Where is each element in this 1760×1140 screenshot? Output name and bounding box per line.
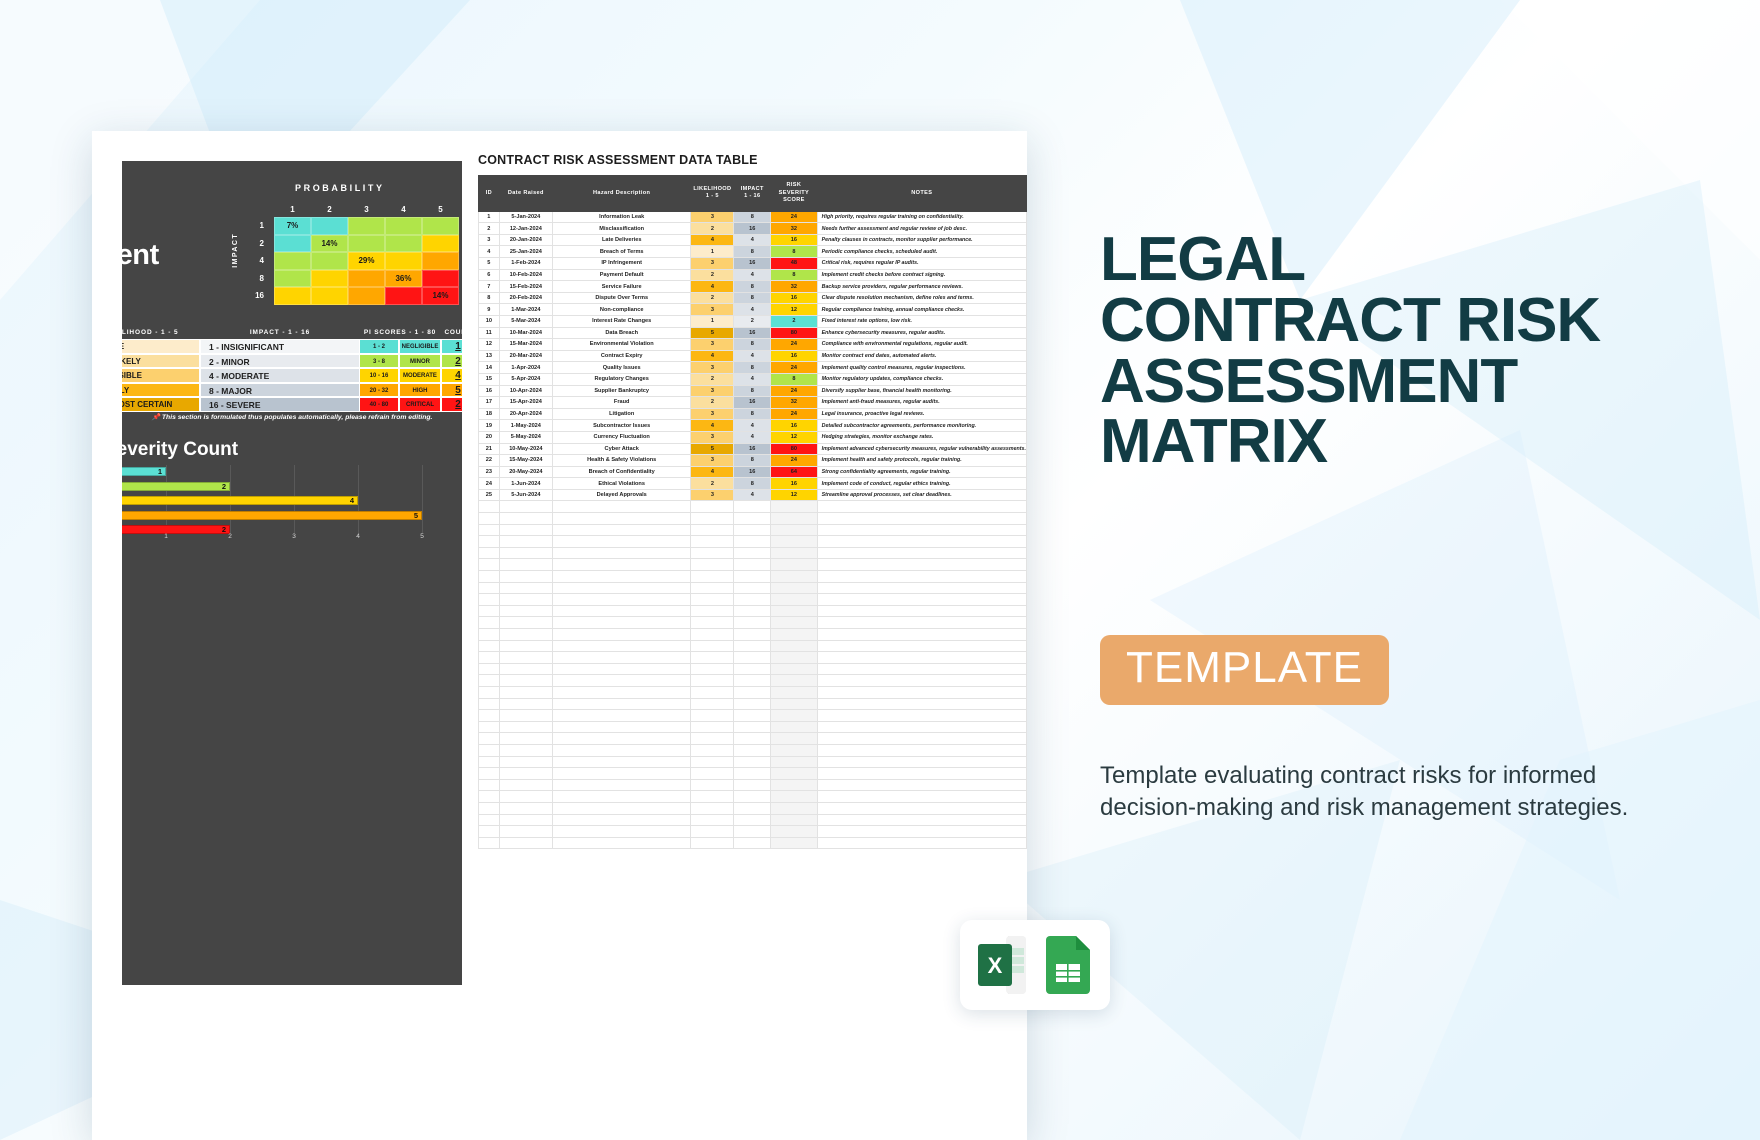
cell-empty	[734, 814, 771, 826]
cell-severity: 16	[771, 292, 817, 304]
cell-empty	[771, 501, 817, 513]
cell-empty	[479, 594, 500, 606]
table-row-empty[interactable]	[479, 802, 1027, 814]
risk-heatmap: 7%14%29%36%14%	[274, 217, 459, 305]
cell-likelihood: 5	[691, 443, 734, 455]
table-row-empty[interactable]	[479, 733, 1027, 745]
table-row-empty[interactable]	[479, 582, 1027, 594]
cell-empty	[734, 524, 771, 536]
cell-likelihood: 1	[691, 246, 734, 258]
cell-empty	[771, 663, 817, 675]
cell-empty	[479, 837, 500, 849]
cell-notes: High priority, requires regular training…	[817, 211, 1026, 223]
table-row-empty[interactable]	[479, 826, 1027, 838]
cell-empty	[552, 547, 690, 559]
table-row-empty[interactable]	[479, 605, 1027, 617]
cell-id: 8	[479, 292, 500, 304]
cell-date: 10-Mar-2024	[499, 327, 552, 339]
legend-impact-cell: 8 - MAJOR	[200, 383, 360, 398]
legend-likelihood-cell: 3 - POSSIBLE	[122, 368, 200, 383]
impact-tick-1: 1	[246, 217, 264, 235]
pi-score-row: 3 - 8MINOR2	[359, 354, 462, 369]
legend-likelihood-cell: 1 - RARE	[122, 339, 200, 354]
table-row[interactable]: 15-Jan-2024Information Leak3824High prio…	[479, 211, 1027, 223]
cell-date: 20-Feb-2024	[499, 292, 552, 304]
cell-empty	[499, 710, 552, 722]
cell-empty	[479, 559, 500, 571]
cell-empty	[499, 640, 552, 652]
cell-impact: 4	[734, 304, 771, 316]
cell-empty	[771, 791, 817, 803]
cell-notes: Hedging strategies, monitor exchange rat…	[817, 431, 1026, 443]
cell-severity: 16	[771, 350, 817, 362]
cell-hazard: Quality Issues	[552, 362, 690, 374]
severity-chart-title: Severity Count	[122, 439, 238, 461]
sev-bar-value: 2	[222, 482, 226, 491]
cell-impact: 8	[734, 292, 771, 304]
cell-empty	[479, 513, 500, 525]
cell-empty	[691, 640, 734, 652]
cell-empty	[817, 802, 1026, 814]
cell-empty	[734, 826, 771, 838]
cell-impact: 16	[734, 327, 771, 339]
cell-likelihood: 3	[691, 455, 734, 467]
cell-empty	[771, 629, 817, 641]
cell-empty	[691, 698, 734, 710]
cell-empty	[817, 710, 1026, 722]
cell-empty	[817, 663, 1026, 675]
cell-severity: 24	[771, 455, 817, 467]
table-row-empty[interactable]	[479, 814, 1027, 826]
table-row-empty[interactable]	[479, 791, 1027, 803]
cell-likelihood: 3	[691, 489, 734, 501]
cell-impact: 4	[734, 373, 771, 385]
cell-id: 9	[479, 304, 500, 316]
table-row-empty[interactable]	[479, 559, 1027, 571]
cell-id: 14	[479, 362, 500, 374]
table-row[interactable]: 241-Jun-2024Ethical Violations2816Implem…	[479, 478, 1027, 490]
table-row[interactable]: 1110-Mar-2024Data Breach51680Enhance cyb…	[479, 327, 1027, 339]
cell-empty	[552, 733, 690, 745]
cell-severity: 12	[771, 431, 817, 443]
cell-empty	[771, 710, 817, 722]
cell-empty	[691, 571, 734, 583]
cell-empty	[734, 721, 771, 733]
cell-empty	[817, 559, 1026, 571]
cell-empty	[771, 571, 817, 583]
cell-impact: 16	[734, 223, 771, 235]
pi-scores-table: PI SCORES - 1 - 80 COUNT 1 - 2NEGLIGIBLE…	[359, 329, 462, 412]
cell-impact: 16	[734, 443, 771, 455]
table-row[interactable]: 205-May-2024Currency Fluctuation3412Hedg…	[479, 431, 1027, 443]
table-row-empty[interactable]	[479, 675, 1027, 687]
cell-empty	[499, 698, 552, 710]
cell-empty	[479, 721, 500, 733]
promo-panel: LEGAL CONTRACT RISK ASSESSMENT MATRIX TE…	[1100, 0, 1760, 1140]
cell-id: 10	[479, 315, 500, 327]
cell-empty	[552, 605, 690, 617]
cell-date: 1-May-2024	[499, 420, 552, 432]
cell-empty	[499, 536, 552, 548]
table-row-empty[interactable]	[479, 501, 1027, 513]
cell-empty	[479, 791, 500, 803]
cell-hazard: Ethical Violations	[552, 478, 690, 490]
heatmap-cell-4-3	[348, 270, 385, 288]
cell-id: 23	[479, 466, 500, 478]
file-format-list: X	[960, 920, 1110, 1010]
cell-hazard: Late Deliveries	[552, 234, 690, 246]
table-row[interactable]: 255-Jun-2024Delayed Approvals3412Streaml…	[479, 489, 1027, 501]
cell-likelihood: 2	[691, 269, 734, 281]
cell-severity: 64	[771, 466, 817, 478]
pi-label-cell: NEGLIGIBLE	[399, 339, 441, 354]
cell-hazard: Regulatory Changes	[552, 373, 690, 385]
cell-empty	[552, 744, 690, 756]
cell-empty	[691, 779, 734, 791]
cell-notes: Implement code of conduct, regular ethic…	[817, 478, 1026, 490]
cell-empty	[734, 513, 771, 525]
cell-date: 1-Apr-2024	[499, 362, 552, 374]
table-row-empty[interactable]	[479, 710, 1027, 722]
cell-severity: 80	[771, 327, 817, 339]
cell-likelihood: 3	[691, 258, 734, 270]
table-row[interactable]: 212-Jan-2024Misclassification21632Needs …	[479, 223, 1027, 235]
sev-axis-tick-5: 5	[420, 533, 424, 540]
cell-empty	[552, 571, 690, 583]
cell-impact: 16	[734, 466, 771, 478]
cell-empty	[499, 663, 552, 675]
table-row[interactable]: 820-Feb-2024Dispute Over Terms2816Clear …	[479, 292, 1027, 304]
google-sheets-icon[interactable]	[1042, 934, 1094, 996]
table-row-empty[interactable]	[479, 524, 1027, 536]
cell-hazard: Supplier Bankruptcy	[552, 385, 690, 397]
promo-title: LEGAL CONTRACT RISK ASSESSMENT MATRIX	[1100, 230, 1660, 473]
table-row[interactable]: 715-Feb-2024Service Failure4832Backup se…	[479, 281, 1027, 293]
cell-id: 3	[479, 234, 500, 246]
cell-hazard: Payment Default	[552, 269, 690, 281]
cell-severity: 8	[771, 373, 817, 385]
cell-empty	[552, 582, 690, 594]
table-row-empty[interactable]	[479, 536, 1027, 548]
cell-notes: Implement anti-fraud measures, regular a…	[817, 397, 1026, 409]
cell-likelihood: 4	[691, 350, 734, 362]
table-row[interactable]: 1715-Apr-2024Fraud21632Implement anti-fr…	[479, 397, 1027, 409]
table-row[interactable]: 191-May-2024Subcontractor Issues4416Deta…	[479, 420, 1027, 432]
cell-hazard: Non-compliance	[552, 304, 690, 316]
cell-id: 25	[479, 489, 500, 501]
cell-empty	[552, 814, 690, 826]
cell-empty	[499, 837, 552, 849]
table-row-empty[interactable]	[479, 698, 1027, 710]
cell-severity: 8	[771, 246, 817, 258]
cell-empty	[734, 605, 771, 617]
table-row[interactable]: 320-Jan-2024Late Deliveries4416Penalty c…	[479, 234, 1027, 246]
table-row-empty[interactable]	[479, 744, 1027, 756]
cell-hazard: Data Breach	[552, 327, 690, 339]
cell-empty	[771, 686, 817, 698]
cell-empty	[691, 594, 734, 606]
cell-empty	[817, 640, 1026, 652]
cell-id: 12	[479, 339, 500, 351]
cell-date: 5-Jan-2024	[499, 211, 552, 223]
sev-bar-moderate: 4	[122, 496, 358, 505]
cell-impact: 4	[734, 420, 771, 432]
cell-empty	[734, 710, 771, 722]
cell-empty	[691, 617, 734, 629]
cell-empty	[771, 768, 817, 780]
cell-empty	[499, 571, 552, 583]
cell-id: 16	[479, 385, 500, 397]
sev-bar-value: 4	[350, 496, 354, 505]
cell-date: 1-Feb-2024	[499, 258, 552, 270]
cell-empty	[499, 768, 552, 780]
cell-id: 13	[479, 350, 500, 362]
cell-empty	[499, 744, 552, 756]
cell-empty	[499, 779, 552, 791]
cell-empty	[691, 814, 734, 826]
table-row[interactable]: 2215-May-2024Health & Safety Violations3…	[479, 455, 1027, 467]
promo-subtitle: Template evaluating contract risks for i…	[1100, 760, 1680, 825]
cell-likelihood: 3	[691, 339, 734, 351]
table-row[interactable]: 1820-Apr-2024Litigation3824Legal insuran…	[479, 408, 1027, 420]
cell-empty	[771, 513, 817, 525]
cell-empty	[734, 733, 771, 745]
cell-empty	[691, 721, 734, 733]
cell-impact: 4	[734, 489, 771, 501]
heatmap-cell-5-5: 14%	[422, 287, 459, 305]
cell-empty	[817, 617, 1026, 629]
risk-data-table: IDDate RaisedHazard DescriptionLIKELIHOO…	[478, 175, 1027, 849]
cell-empty	[552, 675, 690, 687]
cell-empty	[734, 837, 771, 849]
sev-bar-negligible: 1	[122, 467, 166, 476]
sev-axis-tick-1: 1	[164, 533, 168, 540]
impact-axis-label: IMPACT	[232, 233, 239, 268]
cell-empty	[499, 652, 552, 664]
table-row-empty[interactable]	[479, 779, 1027, 791]
cell-empty	[691, 536, 734, 548]
cell-hazard: Breach of Terms	[552, 246, 690, 258]
table-row-empty[interactable]	[479, 547, 1027, 559]
table-row[interactable]: 610-Feb-2024Payment Default248Implement …	[479, 269, 1027, 281]
cell-empty	[499, 733, 552, 745]
cell-notes: Monitor contract end dates, automated al…	[817, 350, 1026, 362]
cell-empty	[817, 582, 1026, 594]
table-row[interactable]: 141-Apr-2024Quality Issues3824Implement …	[479, 362, 1027, 374]
cell-empty	[771, 605, 817, 617]
table-row-empty[interactable]	[479, 768, 1027, 780]
table-row-empty[interactable]	[479, 721, 1027, 733]
cell-empty	[771, 698, 817, 710]
heatmap-cell-5-3	[348, 287, 385, 305]
cell-empty	[691, 837, 734, 849]
cell-empty	[734, 640, 771, 652]
cell-notes: Strong confidentiality agreements, regul…	[817, 466, 1026, 478]
cell-empty	[817, 698, 1026, 710]
cell-empty	[691, 582, 734, 594]
cell-empty	[479, 663, 500, 675]
cell-empty	[817, 733, 1026, 745]
cell-date: 5-May-2024	[499, 431, 552, 443]
cell-empty	[691, 547, 734, 559]
table-row[interactable]: 1320-Mar-2024Contract Expiry4416Monitor …	[479, 350, 1027, 362]
cell-empty	[771, 837, 817, 849]
cell-notes: Legal insurance, proactive legal reviews…	[817, 408, 1026, 420]
table-row-empty[interactable]	[479, 640, 1027, 652]
cell-date: 5-Jun-2024	[499, 489, 552, 501]
cell-empty	[771, 536, 817, 548]
cell-empty	[771, 733, 817, 745]
data-table-title: CONTRACT RISK ASSESSMENT DATA TABLE	[478, 153, 1027, 167]
table-row-empty[interactable]	[479, 652, 1027, 664]
cell-id: 18	[479, 408, 500, 420]
cell-date: 15-Apr-2024	[499, 397, 552, 409]
cell-impact: 8	[734, 339, 771, 351]
cell-empty	[479, 629, 500, 641]
table-row-empty[interactable]	[479, 663, 1027, 675]
cell-likelihood: 2	[691, 223, 734, 235]
cell-notes: Streamline approval processes, set clear…	[817, 489, 1026, 501]
cell-empty	[691, 768, 734, 780]
table-row-empty[interactable]	[479, 571, 1027, 583]
cell-likelihood: 4	[691, 466, 734, 478]
sev-bar-minor: 2	[122, 482, 230, 491]
cell-empty	[552, 686, 690, 698]
cell-empty	[479, 582, 500, 594]
sev-bar-value: 1	[158, 467, 162, 476]
table-row-empty[interactable]	[479, 756, 1027, 768]
table-row-empty[interactable]	[479, 617, 1027, 629]
cell-date: 20-Apr-2024	[499, 408, 552, 420]
cell-empty	[479, 536, 500, 548]
cell-date: 5-Mar-2024	[499, 315, 552, 327]
cell-empty	[817, 768, 1026, 780]
cell-empty	[817, 826, 1026, 838]
heatmap-cell-2-2: 14%	[311, 235, 348, 253]
cell-likelihood: 2	[691, 292, 734, 304]
cell-date: 10-Apr-2024	[499, 385, 552, 397]
cell-empty	[499, 513, 552, 525]
cell-hazard: Service Failure	[552, 281, 690, 293]
cell-empty	[499, 791, 552, 803]
cell-empty	[552, 524, 690, 536]
cell-id: 20	[479, 431, 500, 443]
cell-empty	[552, 559, 690, 571]
cell-empty	[691, 802, 734, 814]
pi-label-cell: MODERATE	[399, 368, 441, 383]
cell-date: 20-May-2024	[499, 466, 552, 478]
cell-empty	[691, 744, 734, 756]
cell-empty	[691, 605, 734, 617]
cell-empty	[499, 814, 552, 826]
cell-likelihood: 2	[691, 397, 734, 409]
heatmap-cell-2-3	[348, 235, 385, 253]
cell-empty	[552, 698, 690, 710]
table-row[interactable]: 425-Jan-2024Breach of Terms188Periodic c…	[479, 246, 1027, 258]
cell-id: 17	[479, 397, 500, 409]
table-row[interactable]: 155-Apr-2024Regulatory Changes248Monitor…	[479, 373, 1027, 385]
cell-empty	[691, 710, 734, 722]
legend-impact-header: IMPACT - 1 - 16	[200, 329, 360, 336]
cell-empty	[771, 652, 817, 664]
probability-tick-2: 2	[311, 205, 348, 214]
table-row[interactable]: 105-Mar-2024Interest Rate Changes122Fixe…	[479, 315, 1027, 327]
cell-notes: Implement health and safety protocols, r…	[817, 455, 1026, 467]
severity-count-chart: 12452 012345	[122, 465, 422, 545]
table-row[interactable]: 2320-May-2024Breach of Confidentiality41…	[479, 466, 1027, 478]
excel-icon[interactable]: X	[976, 934, 1028, 996]
cell-empty	[499, 756, 552, 768]
cell-notes: Penalty clauses in contracts, monitor su…	[817, 234, 1026, 246]
legend-impact-cell: 1 - INSIGNIFICANT	[200, 339, 360, 354]
cell-empty	[771, 756, 817, 768]
cell-impact: 8	[734, 408, 771, 420]
pi-label-cell: HIGH	[399, 383, 441, 398]
probability-tick-5: 5	[422, 205, 459, 214]
cell-empty	[691, 501, 734, 513]
cell-likelihood: 2	[691, 478, 734, 490]
sev-axis-tick-2: 2	[228, 533, 232, 540]
cell-likelihood: 3	[691, 408, 734, 420]
cell-empty	[734, 582, 771, 594]
table-row-empty[interactable]	[479, 686, 1027, 698]
table-row-empty[interactable]	[479, 629, 1027, 641]
cell-severity: 32	[771, 397, 817, 409]
table-row[interactable]: 1610-Apr-2024Supplier Bankruptcy3824Dive…	[479, 385, 1027, 397]
cell-empty	[771, 559, 817, 571]
legend-likelihood-cell: 4 - LIKELY	[122, 383, 200, 398]
cell-empty	[734, 756, 771, 768]
cell-empty	[734, 744, 771, 756]
pi-count-cell: 1	[441, 339, 462, 354]
cell-empty	[552, 536, 690, 548]
cell-empty	[499, 629, 552, 641]
cell-empty	[817, 791, 1026, 803]
risk-matrix-panel: essment rix PROBABILITY 12345 IMPACT 124…	[122, 161, 462, 985]
table-row[interactable]: 2110-May-2024Cyber Attack51680Implement …	[479, 443, 1027, 455]
table-row-empty[interactable]	[479, 513, 1027, 525]
cell-severity: 16	[771, 478, 817, 490]
cell-notes: Backup service providers, regular perfor…	[817, 281, 1026, 293]
table-row-empty[interactable]	[479, 594, 1027, 606]
pi-range-cell: 10 - 16	[359, 368, 399, 383]
cell-empty	[734, 686, 771, 698]
formula-note: 📌 This section is formulated thus popula…	[122, 413, 462, 421]
pi-range-cell: 20 - 32	[359, 383, 399, 398]
cell-severity: 24	[771, 211, 817, 223]
table-row[interactable]: 51-Feb-2024IP Infringement31648Critical …	[479, 258, 1027, 270]
table-row[interactable]: 91-Mar-2024Non-compliance3412Regular com…	[479, 304, 1027, 316]
cell-date: 10-May-2024	[499, 443, 552, 455]
cell-empty	[734, 547, 771, 559]
cell-severity: 12	[771, 304, 817, 316]
legend-likelihood-header: LIKELIHOOD - 1 - 5	[122, 329, 200, 336]
cell-empty	[479, 571, 500, 583]
table-row-empty[interactable]	[479, 837, 1027, 849]
table-row[interactable]: 1215-Mar-2024Environmental Violation3824…	[479, 339, 1027, 351]
svg-text:X: X	[988, 953, 1003, 978]
cell-empty	[552, 710, 690, 722]
legend-impact-cell: 2 - MINOR	[200, 354, 360, 369]
cell-empty	[771, 779, 817, 791]
cell-date: 15-Mar-2024	[499, 339, 552, 351]
cell-empty	[479, 547, 500, 559]
probability-tick-3: 3	[348, 205, 385, 214]
cell-notes: Clear dispute resolution mechanism, defi…	[817, 292, 1026, 304]
cell-notes: Enhance cybersecurity measures, regular …	[817, 327, 1026, 339]
cell-empty	[552, 837, 690, 849]
cell-notes: Regular compliance training, annual comp…	[817, 304, 1026, 316]
